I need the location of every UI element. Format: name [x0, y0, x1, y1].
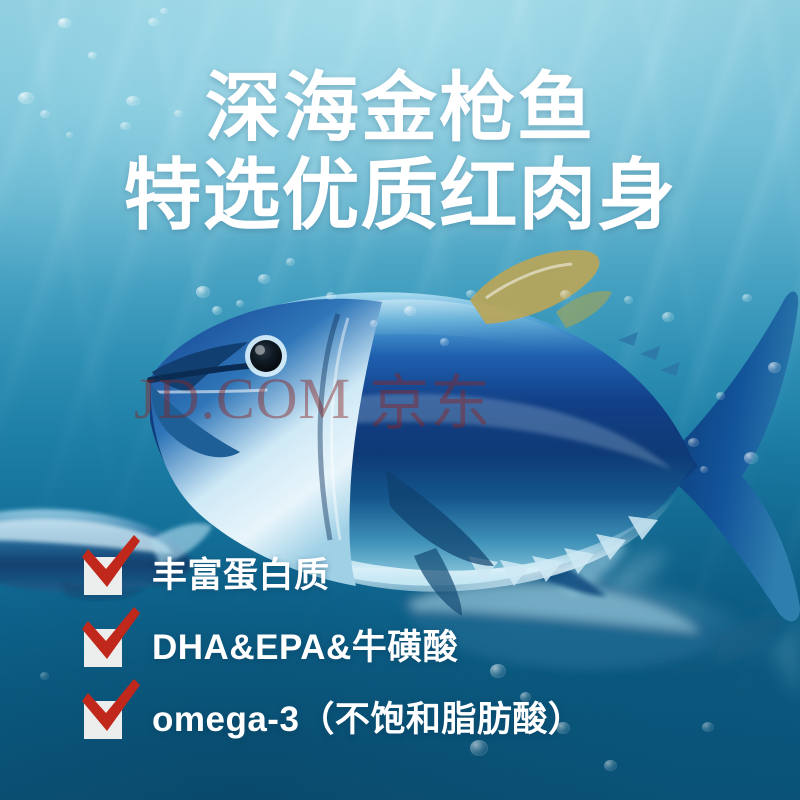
bubble: [624, 296, 633, 304]
check-icon: [78, 535, 142, 597]
bubble: [326, 292, 336, 300]
bubble: [160, 8, 168, 14]
product-poster: JD.COM 京东 深海金枪鱼 特选优质红肉身 丰富蛋白质 DHA&E: [0, 0, 800, 800]
feature-item: 丰富蛋白质: [84, 540, 744, 612]
bubble: [742, 294, 752, 302]
bubble: [700, 466, 708, 473]
bubble: [18, 92, 34, 104]
bubble: [40, 110, 50, 118]
bubble: [120, 122, 131, 130]
check-icon: [78, 607, 142, 669]
bubble: [440, 338, 449, 346]
bubble: [404, 306, 416, 316]
bubble: [662, 312, 674, 322]
checkbox-wrapper: [84, 629, 122, 667]
checkbox-wrapper: [84, 557, 122, 595]
bubble: [604, 760, 617, 771]
bubble: [174, 110, 183, 117]
check-icon: [78, 679, 142, 741]
bubble: [370, 320, 378, 327]
bubble: [716, 392, 725, 400]
bubble: [148, 18, 159, 26]
bubble: [236, 300, 244, 307]
bubble: [88, 52, 97, 59]
bubble: [196, 286, 210, 298]
bubble: [212, 306, 222, 315]
bubble: [688, 438, 699, 447]
feature-label: 丰富蛋白质: [152, 556, 330, 596]
feature-item: omega-3（不饱和脂肪酸）: [84, 684, 744, 756]
bubble: [58, 18, 71, 28]
feature-label: omega-3（不饱和脂肪酸）: [152, 700, 583, 740]
bubble: [66, 132, 73, 138]
bubble: [466, 290, 476, 298]
feature-label: DHA&EPA&牛磺酸: [152, 628, 458, 668]
checkbox-wrapper: [84, 701, 122, 739]
feature-list: 丰富蛋白质 DHA&EPA&牛磺酸 omega-3（不饱和脂肪酸）: [84, 540, 744, 756]
bubble: [258, 274, 270, 284]
bubble: [40, 672, 49, 680]
feature-item: DHA&EPA&牛磺酸: [84, 612, 744, 684]
bubble: [768, 362, 781, 373]
bubble: [286, 258, 295, 266]
bubble: [126, 96, 140, 106]
bubble: [560, 290, 571, 299]
bubble: [744, 452, 758, 464]
